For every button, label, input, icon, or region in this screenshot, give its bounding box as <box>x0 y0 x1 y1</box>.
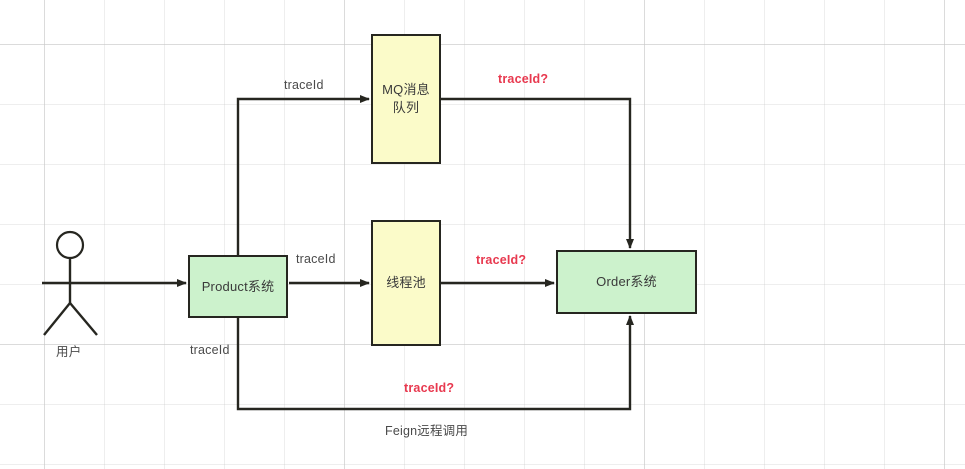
edge-label-product-to-mq: traceId <box>284 78 324 92</box>
node-mq-queue[interactable]: MQ消息 队列 <box>371 34 441 164</box>
diagram-canvas: Product系统 MQ消息 队列 线程池 Order系统 traceId tr… <box>0 0 965 469</box>
node-order-system[interactable]: Order系统 <box>556 250 697 314</box>
edge-label-product-to-pool: traceId <box>296 252 336 266</box>
node-product-system[interactable]: Product系统 <box>188 255 288 318</box>
feign-caption: Feign远程调用 <box>385 420 468 439</box>
connector-product-to-mq <box>238 99 369 255</box>
node-product-label: Product系统 <box>202 278 275 296</box>
node-mq-label: MQ消息 队列 <box>382 81 430 116</box>
node-thread-pool[interactable]: 线程池 <box>371 220 441 346</box>
edge-label-mq-to-order: traceId? <box>498 72 548 86</box>
actor-label: 用户 <box>56 341 81 360</box>
node-mq-label-line1: MQ消息 <box>382 82 430 97</box>
edge-label-product-to-feign: traceId <box>190 343 230 357</box>
connector-mq-to-order <box>441 99 630 248</box>
node-order-label: Order系统 <box>596 273 657 291</box>
edge-label-feign-to-order: traceId? <box>404 381 454 395</box>
node-mq-label-line2: 队列 <box>393 100 419 115</box>
user-stick-figure-icon <box>42 232 98 335</box>
edge-label-pool-to-order: traceId? <box>476 253 526 267</box>
node-thread-pool-label: 线程池 <box>386 274 426 292</box>
diagram-connectors-layer <box>0 0 965 469</box>
